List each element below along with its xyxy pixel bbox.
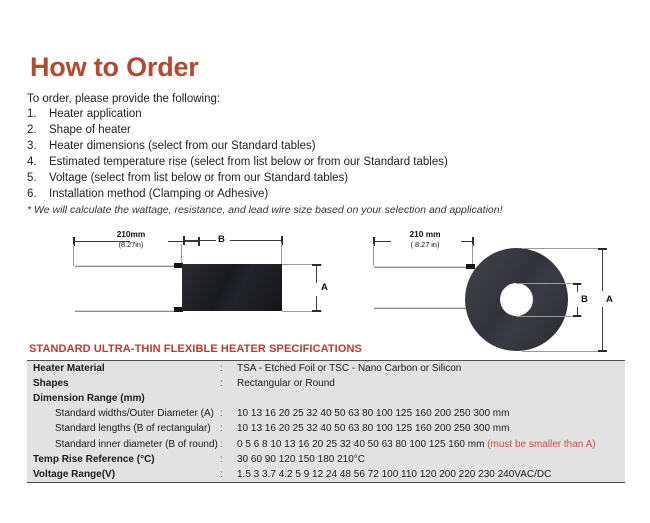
page-title: How to Order bbox=[30, 52, 199, 83]
lead-wire-top bbox=[374, 266, 474, 268]
dimension-tick bbox=[312, 310, 321, 312]
spec-label: Voltage Range(V) bbox=[27, 469, 220, 480]
spec-value: 10 13 16 20 25 32 40 50 63 80 100 125 16… bbox=[237, 423, 625, 434]
extension-line bbox=[522, 248, 607, 249]
list-item-number: 3. bbox=[27, 140, 49, 152]
spec-value: 30 60 90 120 150 180 210°C bbox=[237, 454, 625, 465]
outer-dimension-line bbox=[602, 249, 603, 291]
height-letter-label: A bbox=[321, 282, 328, 293]
height-dimension-line bbox=[316, 296, 317, 311]
rectangular-heater-diagram: 210mm (8.27in) B A bbox=[70, 228, 340, 340]
spec-table: Heater Material : TSA - Etched Foil or T… bbox=[27, 360, 625, 483]
lead-dimension-line bbox=[73, 241, 130, 242]
footnote-text: * We will calculate the wattage, resista… bbox=[27, 204, 503, 216]
list-item-label: Voltage (select from list below or from … bbox=[49, 172, 348, 184]
order-requirements-list: 1. Heater application 2. Shape of heater… bbox=[27, 108, 587, 205]
table-row: Standard inner diameter (B of round) : 0… bbox=[27, 436, 625, 451]
extension-line bbox=[373, 244, 374, 266]
spec-value: 10 13 16 20 25 32 40 50 63 80 100 125 16… bbox=[237, 408, 625, 419]
spec-label: Shapes bbox=[27, 378, 220, 389]
spec-colon: : bbox=[220, 378, 237, 389]
spec-colon: : bbox=[220, 408, 237, 419]
table-row: Voltage Range(V) : 1.5 3 3.7 4.2 5 9 12 … bbox=[27, 467, 625, 482]
inner-dimension-line bbox=[577, 284, 578, 292]
table-row: Dimension Range (mm) bbox=[27, 391, 625, 406]
list-item-label: Shape of heater bbox=[49, 124, 131, 136]
dimension-tick bbox=[198, 237, 200, 246]
lead-dimension-line bbox=[373, 241, 391, 242]
table-row: Temp Rise Reference (°C) : 30 60 90 120 … bbox=[27, 452, 625, 467]
lead-length-label: 210mm (8.27in) bbox=[96, 230, 166, 249]
spec-value: 0 5 6 8 10 13 16 20 25 32 40 50 63 80 10… bbox=[237, 439, 625, 450]
width-letter-label: B bbox=[218, 234, 225, 245]
lead-length-label: 210 mm ( 8.27 in) bbox=[388, 230, 462, 249]
round-heater-diagram: 210 mm ( 8.27 in) B A bbox=[370, 228, 630, 340]
rectangular-heater-body bbox=[182, 264, 282, 311]
dimension-tick bbox=[312, 264, 321, 266]
lead-wire-bottom bbox=[75, 310, 183, 312]
spec-label: Temp Rise Reference (°C) bbox=[27, 454, 220, 465]
list-item-number: 4. bbox=[27, 156, 49, 168]
list-item-label: Estimated temperature rise (select from … bbox=[49, 156, 448, 168]
spec-colon: : bbox=[220, 363, 237, 374]
spec-label: Dimension Range (mm) bbox=[27, 393, 220, 404]
height-dimension-line bbox=[316, 265, 317, 283]
width-dimension-line bbox=[183, 240, 216, 241]
table-row: Shapes : Rectangular or Round bbox=[27, 376, 625, 391]
table-row: Heater Material : TSA - Etched Foil or T… bbox=[27, 361, 625, 376]
round-heater-inner-hole bbox=[500, 283, 533, 316]
spec-section-heading: STANDARD ULTRA-THIN FLEXIBLE HEATER SPEC… bbox=[29, 343, 362, 355]
spec-label: Standard inner diameter (B of round) bbox=[27, 439, 220, 450]
spec-label: Standard widths/Outer Diameter (A) bbox=[27, 408, 220, 419]
list-item: 1. Heater application bbox=[27, 108, 587, 124]
dimension-tick bbox=[573, 315, 581, 317]
table-row: Standard widths/Outer Diameter (A) : 10 … bbox=[27, 406, 625, 421]
spec-value-warning: (must be smaller than A) bbox=[487, 439, 595, 450]
list-item: 4. Estimated temperature rise (select fr… bbox=[27, 156, 587, 172]
spec-colon: : bbox=[220, 454, 237, 465]
spec-value: Rectangular or Round bbox=[237, 378, 625, 389]
list-item: 6. Installation method (Clamping or Adhe… bbox=[27, 188, 587, 204]
list-item-number: 2. bbox=[27, 124, 49, 136]
spec-value: TSA - Etched Foil or TSC - Nano Carbon o… bbox=[237, 363, 625, 374]
document-page: How to Order To order, please provide th… bbox=[0, 0, 650, 523]
width-dimension-line bbox=[230, 240, 282, 241]
extension-line bbox=[472, 244, 473, 266]
extension-line bbox=[281, 242, 282, 266]
list-item-label: Heater application bbox=[49, 108, 142, 120]
list-item: 2. Shape of heater bbox=[27, 124, 587, 140]
intro-text: To order, please provide the following: bbox=[27, 93, 220, 105]
spec-value-text: 0 5 6 8 10 13 16 20 25 32 40 50 63 80 10… bbox=[237, 439, 487, 450]
list-item: 3. Heater dimensions (select from our St… bbox=[27, 140, 587, 156]
lead-length-mm: 210mm bbox=[117, 229, 146, 239]
table-row: Standard lengths (B of rectangular) : 10… bbox=[27, 421, 625, 436]
dimension-tick bbox=[183, 236, 185, 245]
list-item-label: Heater dimensions (select from our Stand… bbox=[49, 140, 316, 152]
list-item-number: 5. bbox=[27, 172, 49, 184]
spec-colon: : bbox=[220, 439, 237, 450]
outer-dimension-line bbox=[602, 307, 603, 351]
lead-wire-bottom bbox=[374, 307, 474, 309]
inner-letter-label: B bbox=[581, 294, 588, 305]
outer-letter-label: A bbox=[606, 294, 613, 305]
spec-colon: : bbox=[220, 423, 237, 434]
spec-label: Heater Material bbox=[27, 363, 220, 374]
extension-line bbox=[522, 351, 607, 352]
lead-crimp-top bbox=[466, 264, 475, 269]
lead-length-in: ( 8.27 in) bbox=[411, 240, 440, 249]
spec-label: Standard lengths (B of rectangular) bbox=[27, 423, 220, 434]
dimension-tick bbox=[598, 350, 607, 352]
extension-line bbox=[73, 244, 74, 266]
spec-value: 1.5 3 3.7 4.2 5 9 12 24 48 56 72 100 110… bbox=[237, 469, 625, 480]
spec-colon: : bbox=[220, 469, 237, 480]
dimension-tick bbox=[598, 248, 607, 250]
list-item-number: 6. bbox=[27, 188, 49, 200]
lead-length-mm: 210 mm bbox=[410, 229, 441, 239]
list-item-number: 1. bbox=[27, 108, 49, 120]
lead-wire-top bbox=[75, 265, 183, 267]
list-item-label: Installation method (Clamping or Adhesiv… bbox=[49, 188, 268, 200]
dimension-tick bbox=[573, 283, 581, 285]
list-item: 5. Voltage (select from list below or fr… bbox=[27, 172, 587, 188]
